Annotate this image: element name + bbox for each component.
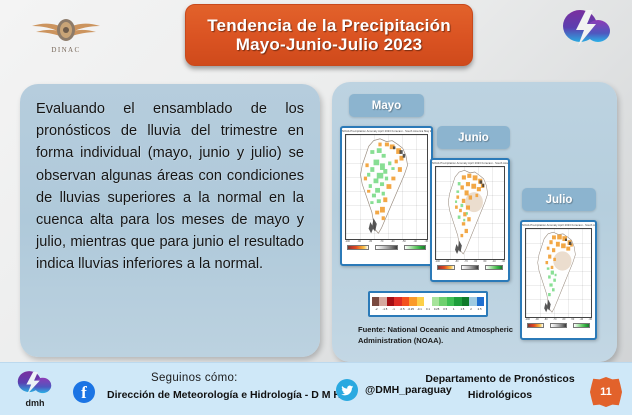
- map-mini-legends-junio: [432, 265, 508, 270]
- map-x-axis-junio: -100-90 -80-70 -60-50 -40-30: [432, 260, 508, 263]
- map-x-axis-mayo: -100-90 -80-70 -60-50 -40-30: [342, 240, 431, 243]
- title-line-2: Mayo-Junio-Julio 2023: [236, 35, 423, 54]
- dinac-label: DINAC: [51, 46, 80, 54]
- department-block: Departamento de Pronósticos Hidrológicos: [420, 372, 580, 404]
- follow-label: Seguinos cómo:: [151, 372, 238, 384]
- dmh-label: dmh: [26, 398, 45, 408]
- map-plot-junio: [435, 166, 505, 260]
- map-card-julio[interactable]: NOAA Precipitation Anomaly April 2023 Fo…: [520, 220, 597, 340]
- dmh-cloud-lightning-icon: [556, 2, 618, 54]
- department-line-1: Departamento de Pronósticos: [420, 372, 580, 388]
- map-label-junio: Junio: [437, 126, 510, 149]
- colorbar-tick-labels: -2-1.5 -1-0.5 -0.25-0.1 0.10.25 0.51 1.5…: [372, 307, 484, 311]
- footer-bar: dmh f Seguinos cómo: Dirección de Meteor…: [0, 362, 632, 415]
- winged-emblem-icon: [26, 15, 106, 45]
- colorbar: -2-1.5 -1-0.5 -0.25-0.1 0.10.25 0.51 1.5…: [368, 291, 488, 317]
- dinac-logo: DINAC: [24, 8, 108, 60]
- map-card-junio[interactable]: NOAA Precipitation Anomaly April 2023 Fo…: [430, 158, 510, 282]
- legend-warm: [347, 245, 369, 250]
- map-title-julio: NOAA Precipitation Anomaly April 2023 Fo…: [522, 222, 595, 227]
- map-x-axis-julio: -100-90 -80-70 -60-50 -40-30: [522, 318, 595, 321]
- facebook-page-name[interactable]: Dirección de Meteorología e Hidrología -…: [107, 389, 341, 401]
- department-line-2: Hidrológicos: [420, 388, 580, 404]
- map-title-junio: NOAA Precipitation Anomaly April 2023 Fo…: [432, 160, 508, 165]
- map-title-mayo: NOAA Precipitation Anomaly April 2023 Fo…: [342, 128, 431, 133]
- maps-panel: Mayo Junio Julio NOAA Precipitation Anom…: [332, 82, 617, 362]
- legend-neutral: [375, 245, 397, 250]
- map-plot-mayo: [345, 134, 428, 240]
- south-america-outline: [526, 229, 591, 317]
- source-note: Fuente: National Oceanic and Atmospheric…: [358, 324, 568, 346]
- map-plot-julio: [525, 228, 592, 318]
- dmh-footer-logo: dmh: [12, 369, 58, 411]
- legend-warm: [437, 265, 456, 270]
- twitter-bird-icon[interactable]: [336, 379, 358, 401]
- title-line-1: Tendencia de la Precipitación: [207, 16, 451, 35]
- summary-paragraph: Evaluando el ensamblado de los pronóstic…: [36, 98, 304, 275]
- map-label-julio: Julio: [522, 188, 596, 211]
- dmh-cloud-lightning-icon: [13, 369, 57, 398]
- legend-cool: [485, 265, 504, 270]
- map-mini-legends-mayo: [342, 245, 431, 250]
- map-label-mayo: Mayo: [349, 94, 424, 117]
- facebook-icon[interactable]: f: [73, 381, 95, 403]
- map-card-mayo[interactable]: NOAA Precipitation Anomaly April 2023 Fo…: [340, 126, 433, 266]
- title-banner: Tendencia de la Precipitación Mayo-Junio…: [185, 4, 473, 66]
- summary-text-panel: Evaluando el ensamblado de los pronóstic…: [20, 84, 320, 357]
- legend-neutral: [461, 265, 480, 270]
- south-america-outline: [346, 135, 427, 239]
- colorbar-strip: [372, 297, 484, 306]
- legend-cool: [573, 323, 591, 328]
- legend-cool: [404, 245, 426, 250]
- page-number-badge: 11: [590, 377, 622, 407]
- south-america-outline: [436, 167, 504, 259]
